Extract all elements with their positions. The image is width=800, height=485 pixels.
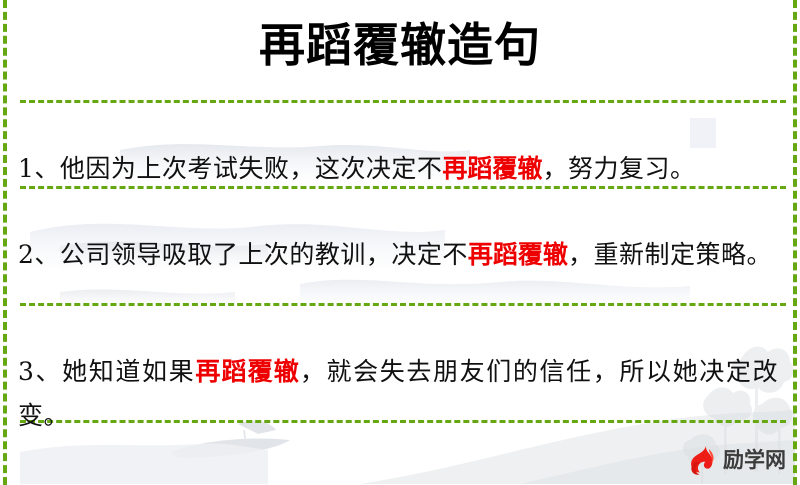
watermark-label: 励学网	[723, 450, 786, 471]
sentence-text-before: 公司领导吸取了上次的教训，决定不	[60, 240, 468, 269]
sentence-item: 1、他因为上次考试失败，这次决定不再蹈覆辙，努力复习。	[18, 147, 778, 191]
highlighted-idiom: 再蹈覆辙	[442, 154, 542, 183]
highlighted-idiom: 再蹈覆辙	[195, 357, 300, 386]
sentence-text-before: 她知道如果	[62, 357, 195, 386]
sentence-index: 3、	[18, 357, 62, 386]
sentence-index: 1、	[18, 154, 60, 183]
highlighted-idiom: 再蹈覆辙	[468, 240, 568, 269]
site-watermark: 励学网	[685, 443, 786, 477]
title-area: 再蹈覆辙造句	[0, 16, 800, 74]
sentence-item: 3、她知道如果再蹈覆辙，就会失去朋友们的信任，所以她决定改变。	[18, 350, 778, 438]
sentence-text-before: 他因为上次考试失败，这次决定不	[60, 154, 443, 183]
flame-swirl-logo-icon	[685, 443, 719, 477]
sentence-index: 2、	[18, 240, 60, 269]
page-title: 再蹈覆辙造句	[259, 16, 541, 74]
sentence-text-after: ，重新制定策略。	[568, 240, 772, 269]
separator-2	[20, 303, 786, 306]
sentence-item: 2、公司领导吸取了上次的教训，决定不再蹈覆辙，重新制定策略。	[18, 233, 778, 277]
separator-top	[20, 100, 786, 103]
sentence-page: 再蹈覆辙造句 1、他因为上次考试失败，这次决定不再蹈覆辙，努力复习。 2、公司领…	[0, 0, 800, 485]
sentence-text-after: ，努力复习。	[542, 154, 695, 183]
